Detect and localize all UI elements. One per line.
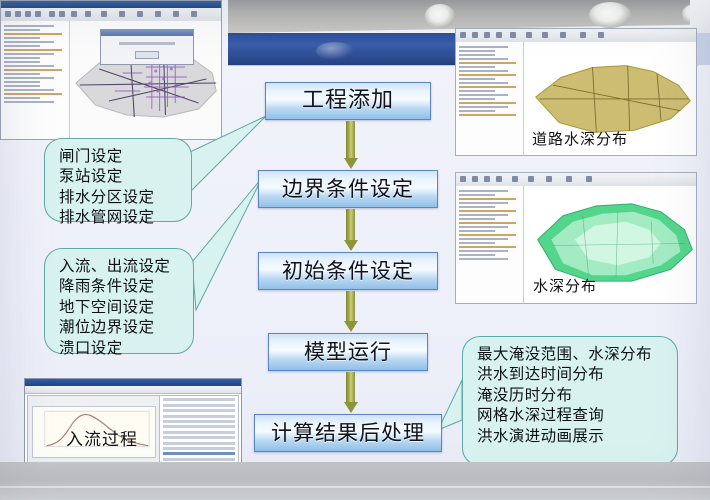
callout-line: 泵站设定: [59, 166, 181, 186]
layer-tree[interactable]: [456, 186, 524, 303]
caption-road-depth: 道路水深分布: [532, 128, 628, 149]
ceiling-lamp-icon: [589, 2, 631, 28]
callout-results: 最大淹没范围、水深分布 洪水到达时间分布 淹没历时分布 网格水深过程查询 洪水演…: [462, 336, 678, 466]
window-body: [1, 21, 221, 139]
callout-line: 溃口设定: [59, 338, 183, 358]
callout-line: 降雨条件设定: [59, 276, 183, 296]
callout-line: 洪水到达时间分布: [477, 364, 667, 384]
callout-boundary-conditions: 入流、出流设定 降雨条件设定 地下空间设定 潮位边界设定 溃口设定: [44, 248, 194, 354]
flow-arrow-down-icon: [344, 121, 357, 169]
window-titlebar: [25, 379, 241, 386]
callout-line: 闸门设定: [59, 146, 181, 166]
flow-step-post-process[interactable]: 计算结果后处理: [254, 414, 442, 452]
map-canvas[interactable]: [70, 21, 221, 139]
callout-line: 最大淹没范围、水深分布: [477, 344, 667, 364]
flow-step-initial-setting[interactable]: 初始条件设定: [258, 252, 438, 290]
slide-banner-cap: [697, 33, 710, 65]
flow-step-boundary-setting[interactable]: 边界条件设定: [258, 170, 438, 208]
callout-line: 洪水演进动画展示: [477, 426, 667, 446]
dialog-ok-button[interactable]: [135, 51, 159, 59]
callout-line: 排水分区设定: [59, 187, 181, 207]
modal-dialog[interactable]: [100, 29, 194, 65]
floor-band: [0, 462, 710, 500]
callout-line: 地下空间设定: [59, 297, 183, 317]
flow-arrow-down-icon: [344, 209, 357, 251]
layer-tree[interactable]: [1, 21, 70, 139]
flow-step-label: 初始条件设定: [282, 261, 414, 282]
callout-structures: 闸门设定 泵站设定 排水分区设定 排水管网设定: [44, 138, 192, 222]
flow-step-model-run[interactable]: 模型运行: [268, 333, 428, 371]
ceiling-lamp-icon: [425, 4, 455, 28]
callout-tail-boundary: [192, 178, 262, 310]
flow-step-label: 计算结果后处理: [271, 423, 425, 444]
flow-step-project-add[interactable]: 工程添加: [265, 82, 431, 120]
callout-line: 入流、出流设定: [59, 256, 183, 276]
caption-inflow: 入流过程: [66, 425, 138, 450]
caption-water-depth: 水深分布: [533, 275, 597, 296]
flow-arrow-down-icon: [344, 291, 357, 332]
dialog-message: [119, 42, 174, 45]
flow-arrow-down-icon: [344, 372, 357, 413]
toolbar: [1, 8, 221, 22]
layer-tree[interactable]: [456, 42, 524, 155]
callout-line: 排水管网设定: [59, 207, 181, 227]
callout-line: 潮位边界设定: [59, 317, 183, 337]
callout-line: 淹没历时分布: [477, 385, 667, 405]
flow-step-label: 工程添加: [302, 90, 394, 112]
dialog-titlebar: [101, 30, 193, 36]
presentation-slide-photo: 道路水深分布: [0, 0, 710, 500]
callout-line: 网格水深过程查询: [477, 405, 667, 425]
flow-step-label: 模型运行: [304, 342, 392, 363]
toolbar: [456, 29, 696, 43]
window-titlebar: [1, 1, 221, 8]
flow-step-label: 边界条件设定: [282, 179, 414, 200]
toolbar: [456, 173, 696, 187]
screenshot-pipe-network[interactable]: [0, 0, 222, 140]
